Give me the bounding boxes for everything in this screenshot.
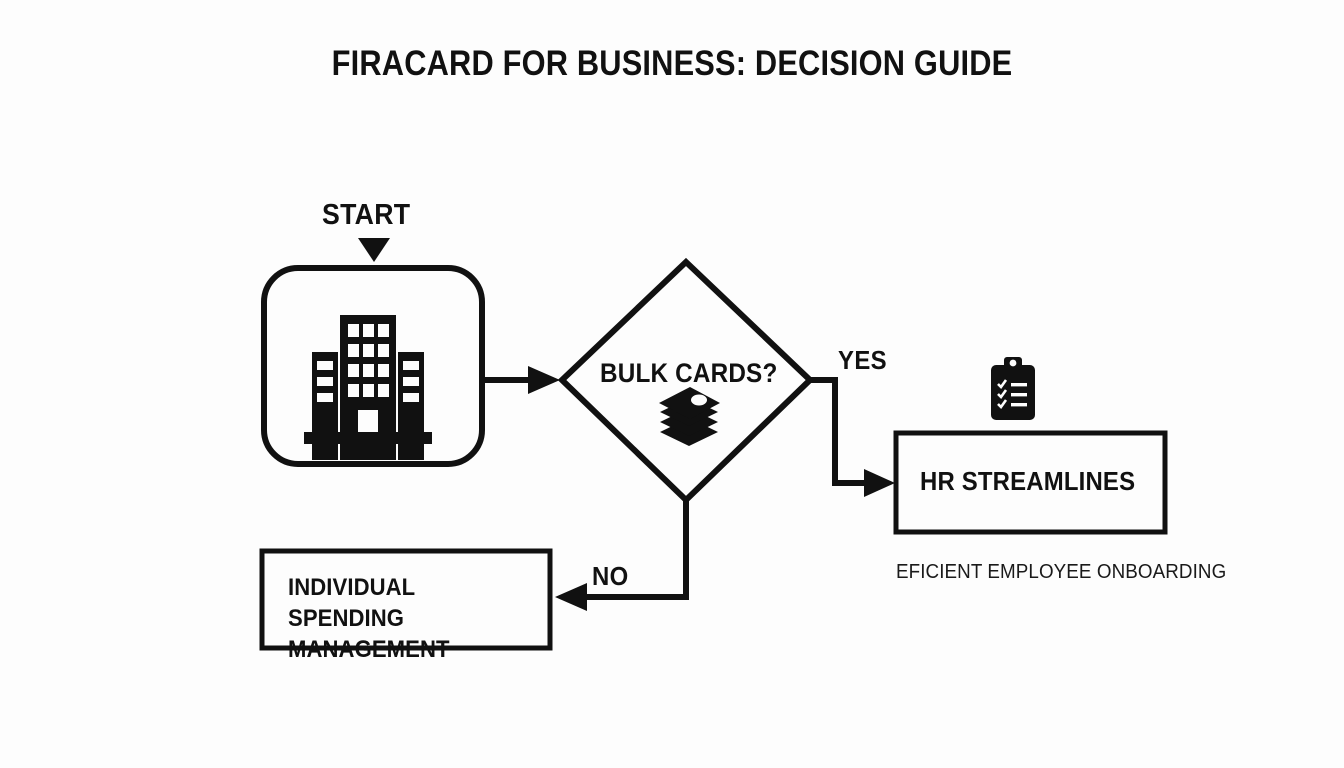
node-individual-label: INDIVIDUAL SPENDING MANAGEMENT <box>288 572 527 665</box>
edge-decision-to-hr <box>810 380 895 497</box>
flowchart-canvas: FIRACARD FOR BUSINESS: DECISION GUIDE <box>0 0 1344 768</box>
node-hr-label: HR STREAMLINES <box>920 466 1135 497</box>
stacked-cards-icon <box>659 387 720 446</box>
node-individual-label-line2: MANAGEMENT <box>288 634 527 665</box>
node-decision-label: BULK CARDS? <box>600 358 777 389</box>
clipboard-checklist-icon <box>991 357 1035 420</box>
start-arrow-icon <box>358 238 390 262</box>
edge-label-yes: YES <box>838 345 887 376</box>
edge-company-to-decision <box>482 366 560 394</box>
node-individual-label-line1: INDIVIDUAL SPENDING <box>288 572 527 634</box>
hr-caption: EFICIENT EMPLOYEE ONBOARDING <box>896 561 1226 584</box>
edge-label-no: NO <box>592 561 629 592</box>
start-label: START <box>322 199 410 232</box>
edge-decision-to-individual <box>555 500 686 611</box>
office-building-icon <box>304 315 432 460</box>
